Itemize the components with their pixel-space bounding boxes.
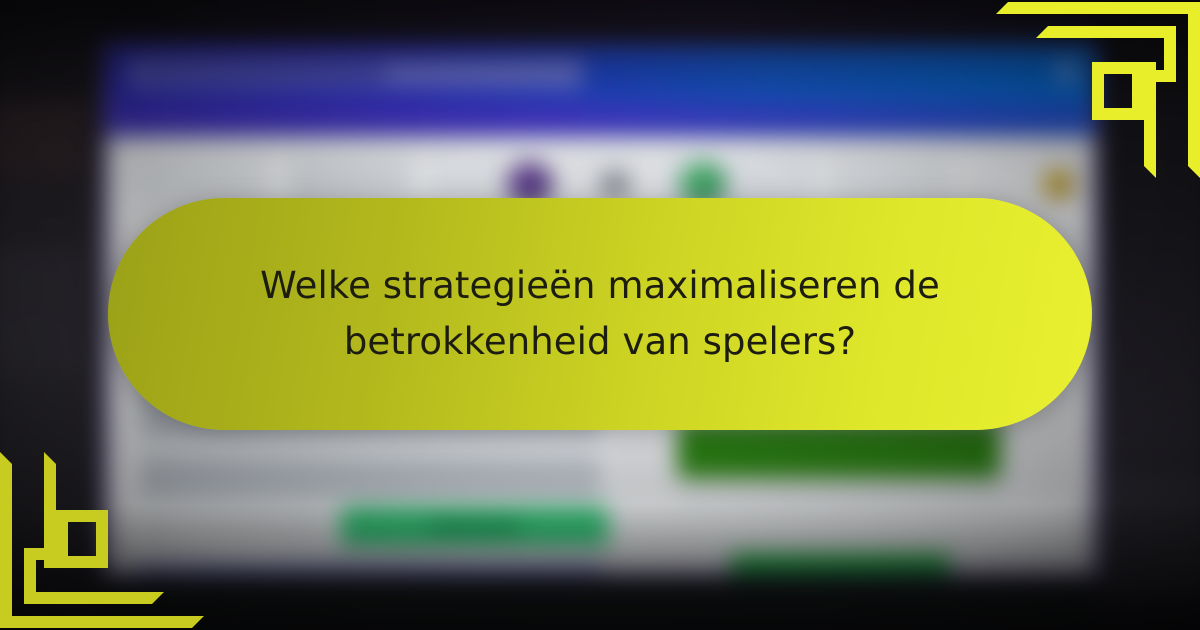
background-window-subbar (107, 103, 1095, 136)
background-avatar-icon (600, 170, 629, 199)
headline-text: Welke strategieën maximaliseren de betro… (240, 258, 960, 370)
social-card: Welke strategieën maximaliseren de betro… (0, 0, 1200, 630)
background-input (141, 510, 326, 545)
background-desktop-left (0, 0, 104, 630)
background-desktop-right (1094, 0, 1200, 630)
close-icon (1057, 62, 1076, 81)
background-bottom-bar (128, 499, 1073, 555)
headline-pill: Welke strategieën maximaliseren de betro… (108, 198, 1092, 430)
background-avatar-icon (1043, 169, 1074, 200)
background-window-titlebar (107, 45, 1095, 103)
background-submit-button (340, 508, 608, 547)
background-divider (139, 565, 603, 573)
background-window-title-text (129, 60, 582, 87)
headline-line-2: betrokkenheid van spelers? (240, 314, 960, 370)
background-desktop-topbar (0, 0, 1200, 38)
headline-line-1: Welke strategieën maximaliseren de (240, 258, 960, 314)
